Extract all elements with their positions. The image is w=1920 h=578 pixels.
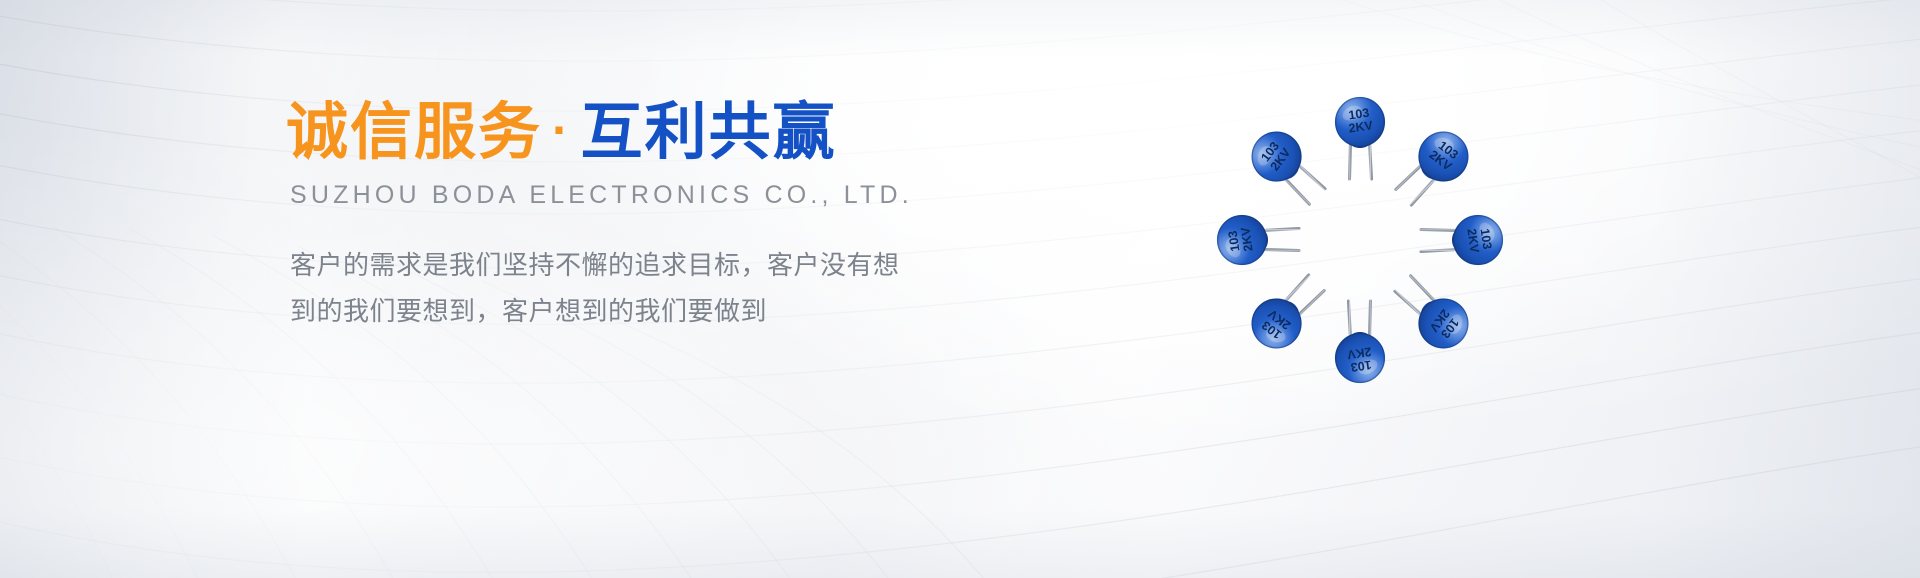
- capacitor-1: 103 2KV: [1335, 301, 1385, 383]
- headline-part-one: 诚信服务: [286, 98, 542, 167]
- page-title: 诚信服务·互利共赢: [286, 100, 966, 165]
- capacitor-3: 103 2KV: [1217, 215, 1299, 265]
- capacitor-8: 103 2KV: [1385, 265, 1478, 358]
- hero-banner: 诚信服务·互利共赢 SUZHOU BODA ELECTRONICS CO., L…: [0, 0, 1920, 578]
- headline-part-two: 互利共赢: [581, 98, 837, 167]
- capacitor-ring-svg: 103 2KV 103 2KV 103 2KV: [1160, 40, 1560, 440]
- description-line-2: 到的我们要想到，客户想到的我们要做到: [290, 288, 930, 334]
- description-line-1: 客户的需求是我们坚持不懈的追求目标，客户没有想: [290, 242, 930, 288]
- capacitor-2: 103 2KV: [1241, 265, 1334, 358]
- capacitor-4: 103 2KV: [1241, 121, 1334, 214]
- banner-copy-block: 诚信服务·互利共赢 SUZHOU BODA ELECTRONICS CO., L…: [286, 100, 966, 335]
- product-image-capacitor-ring: 103 2KV 103 2KV 103 2KV: [1160, 40, 1560, 440]
- capacitor-6: 103 2KV: [1385, 121, 1478, 214]
- capacitor-5: 103 2KV: [1335, 97, 1385, 179]
- capacitor-7: 103 2KV: [1421, 215, 1503, 265]
- company-english-name: SUZHOU BODA ELECTRONICS CO., LTD.: [290, 181, 966, 210]
- banner-description: 客户的需求是我们坚持不懈的追求目标，客户没有想 到的我们要想到，客户想到的我们要…: [290, 242, 930, 335]
- headline-separator-dot: ·: [542, 102, 581, 158]
